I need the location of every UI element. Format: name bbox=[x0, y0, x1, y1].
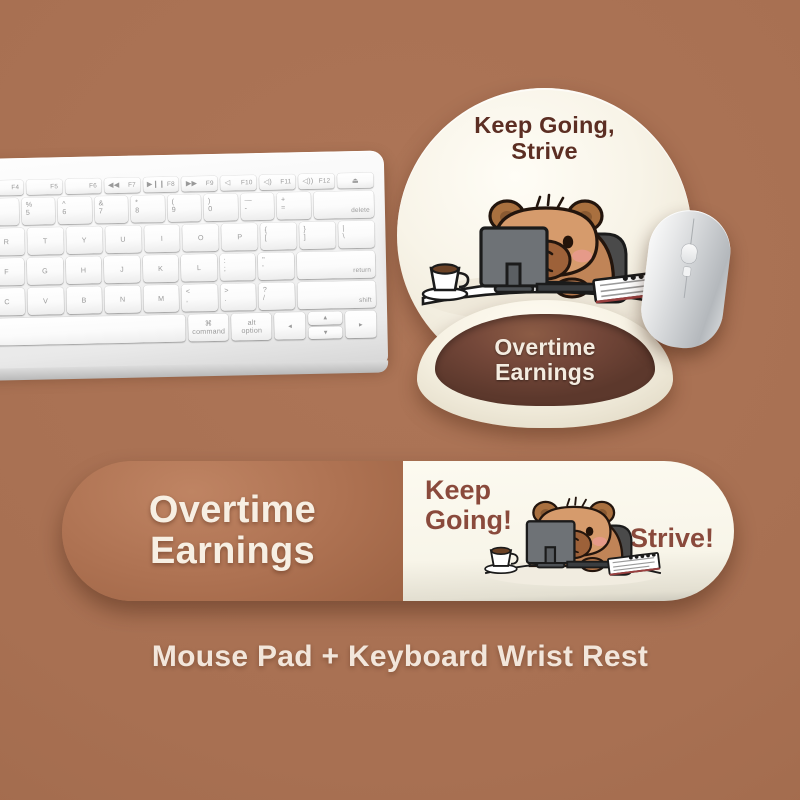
key-i[interactable]: I bbox=[144, 225, 180, 253]
product-photo-background: ·Ȇ·F3 ⌸F4 F5 F6 ◀◀F7 ▶❙❙F8 ▶▶F9 ◁F10 ◁)F… bbox=[0, 0, 800, 800]
key-b[interactable]: B bbox=[66, 286, 102, 314]
key-label: F bbox=[0, 267, 24, 276]
key-arrow-left[interactable]: ◂ bbox=[274, 312, 305, 340]
apple-keyboard: ·Ȇ·F3 ⌸F4 F5 F6 ◀◀F7 ▶❙❙F8 ▶▶F9 ◁F10 ◁)F… bbox=[0, 150, 388, 374]
key-label: G bbox=[27, 266, 63, 275]
key-v[interactable]: V bbox=[28, 287, 64, 315]
key-shift: — - bbox=[244, 196, 252, 213]
keyboard-wrist-rest[interactable]: Overtime Earnings Keep Going! Strive! bbox=[62, 461, 734, 601]
key-glyph: ▸ bbox=[345, 320, 376, 329]
key-label: H bbox=[66, 266, 102, 275]
key-5[interactable]: % 5 bbox=[22, 197, 56, 225]
mouse-pad-slogan-line2: Strive bbox=[397, 138, 692, 164]
key-f10-mute[interactable]: ◁F10 bbox=[221, 175, 257, 191]
key-command-right[interactable]: ⌘ command bbox=[188, 314, 229, 342]
key-shift-right[interactable]: shift bbox=[297, 281, 376, 310]
key-j[interactable]: J bbox=[104, 256, 140, 284]
key-f12-volume-up[interactable]: ◁))F12 bbox=[298, 173, 334, 189]
key-f[interactable]: F bbox=[0, 258, 25, 286]
key-glyph: ▶❙❙ bbox=[147, 180, 165, 189]
key-glyph: ◁ bbox=[225, 179, 231, 188]
key-6[interactable]: ^ 6 bbox=[58, 197, 92, 225]
key-f6[interactable]: F6 bbox=[65, 178, 101, 194]
key-f8-play[interactable]: ▶❙❙F8 bbox=[143, 177, 179, 193]
key-shift: > . bbox=[224, 287, 229, 304]
key-comma[interactable]: < , bbox=[182, 284, 218, 312]
key-label: ⌘ command bbox=[188, 319, 228, 337]
key-shift: : ; bbox=[224, 257, 227, 274]
key-glyph: ⏏ bbox=[337, 176, 373, 185]
key-glyph: ◁) bbox=[264, 178, 273, 187]
wrist-bump-line2: Earnings bbox=[495, 360, 595, 385]
key-equals[interactable]: + = bbox=[277, 192, 311, 220]
wrist-bump-label-area: Overtime Earnings bbox=[435, 314, 655, 406]
key-glyph: ▴ bbox=[308, 313, 342, 322]
key-arrow-updown-group: ▴ ▾ bbox=[308, 311, 342, 339]
wrist-rest-art-panel: Keep Going! Strive! bbox=[403, 461, 734, 601]
key-c[interactable]: C bbox=[0, 288, 25, 316]
key-slash[interactable]: ? / bbox=[259, 282, 295, 310]
key-option[interactable]: alt option bbox=[231, 313, 272, 341]
key-t[interactable]: T bbox=[27, 227, 63, 255]
key-eject[interactable]: ⏏ bbox=[337, 173, 373, 189]
key-label: L bbox=[181, 263, 217, 272]
key-m[interactable]: M bbox=[143, 285, 179, 313]
key-sub: F12 bbox=[319, 177, 331, 186]
key-shift: { [ bbox=[265, 226, 268, 243]
key-shift: % 5 bbox=[26, 201, 33, 218]
key-shift: } ] bbox=[303, 225, 306, 242]
keyboard-body: ·Ȇ·F3 ⌸F4 F5 F6 ◀◀F7 ▶❙❙F8 ▶▶F9 ◁F10 ◁)F… bbox=[0, 150, 388, 374]
key-label: shift bbox=[359, 296, 372, 305]
key-label: N bbox=[105, 295, 141, 304]
key-shift: & 7 bbox=[99, 199, 104, 216]
key-f9-forward[interactable]: ▶▶F9 bbox=[182, 176, 218, 192]
key-sub: F9 bbox=[206, 180, 214, 189]
key-f11-volume-down[interactable]: ◁)F11 bbox=[259, 174, 295, 190]
key-label: B bbox=[66, 296, 102, 305]
key-backslash[interactable]: | \ bbox=[338, 221, 374, 249]
key-0[interactable]: ) 0 bbox=[204, 193, 238, 221]
key-quote[interactable]: " ' bbox=[258, 252, 294, 280]
wrist-rest-line2: Earnings bbox=[150, 530, 315, 572]
key-l[interactable]: L bbox=[181, 254, 217, 282]
key-f4[interactable]: ⌸F4 bbox=[0, 180, 23, 196]
capybara-desk-illustration-bar bbox=[475, 479, 671, 591]
key-glyph: ▾ bbox=[309, 328, 343, 337]
key-shift: ^ 6 bbox=[62, 200, 67, 217]
key-sub: F6 bbox=[89, 182, 97, 191]
key-f7-rewind[interactable]: ◀◀F7 bbox=[104, 178, 140, 194]
key-sub: F8 bbox=[167, 180, 175, 189]
key-bracket-right[interactable]: } ] bbox=[299, 221, 335, 249]
key-shift: | \ bbox=[342, 224, 345, 241]
key-7[interactable]: & 7 bbox=[94, 196, 128, 224]
key-bracket-left[interactable]: { [ bbox=[260, 222, 296, 250]
key-shift: " ' bbox=[262, 256, 265, 273]
mouse-scroll-wheel[interactable] bbox=[681, 243, 698, 264]
key-n[interactable]: N bbox=[105, 286, 141, 314]
key-u[interactable]: U bbox=[105, 226, 141, 254]
key-sub: F11 bbox=[280, 178, 291, 187]
key-arrow-down[interactable]: ▾ bbox=[309, 326, 343, 339]
key-p[interactable]: P bbox=[222, 223, 258, 251]
key-shift: + = bbox=[281, 195, 286, 212]
keyboard-row-modifiers: ⌘ command ⌘ command alt option ◂ ▴ ▾ ▸ bbox=[0, 311, 381, 347]
key-space[interactable] bbox=[0, 315, 186, 346]
key-semicolon[interactable]: : ; bbox=[220, 253, 256, 281]
key-label: O bbox=[183, 233, 219, 242]
wrist-rest-label-panel: Overtime Earnings bbox=[62, 461, 403, 601]
keyboard-front-edge bbox=[0, 360, 388, 381]
key-f5[interactable]: F5 bbox=[26, 179, 62, 195]
key-label: delete bbox=[351, 206, 370, 215]
key-label: U bbox=[105, 235, 141, 244]
key-sub: F7 bbox=[128, 181, 136, 190]
wrist-bump-line1: Overtime bbox=[494, 335, 595, 360]
wrist-rest-text-block: Overtime Earnings bbox=[149, 490, 316, 572]
keyboard-keys: ·Ȇ·F3 ⌸F4 F5 F6 ◀◀F7 ▶❙❙F8 ▶▶F9 ◁F10 ◁)F… bbox=[0, 173, 381, 363]
key-sub: F10 bbox=[241, 179, 253, 188]
key-sub: F5 bbox=[50, 183, 58, 192]
key-4[interactable]: $ 4 bbox=[0, 198, 19, 226]
key-label: M bbox=[143, 294, 179, 303]
key-glyph: ◀◀ bbox=[108, 181, 120, 190]
key-h[interactable]: H bbox=[65, 256, 101, 284]
key-label: T bbox=[27, 236, 63, 245]
mouse-seam-top bbox=[690, 218, 694, 244]
key-delete[interactable]: delete bbox=[313, 191, 374, 219]
key-label: I bbox=[144, 234, 180, 243]
key-period[interactable]: > . bbox=[220, 283, 256, 311]
key-glyph: ◁)) bbox=[302, 177, 313, 186]
key-label: K bbox=[143, 264, 179, 273]
key-label: R bbox=[0, 237, 24, 246]
key-arrow-right[interactable]: ▸ bbox=[345, 311, 376, 339]
mouse-dpi-button[interactable] bbox=[683, 267, 691, 277]
key-return[interactable]: return bbox=[297, 251, 376, 280]
key-minus[interactable]: — - bbox=[240, 193, 274, 221]
key-o[interactable]: O bbox=[183, 224, 219, 252]
key-g[interactable]: G bbox=[27, 257, 63, 285]
key-label: V bbox=[28, 296, 64, 305]
key-glyph: ▶▶ bbox=[186, 179, 198, 188]
key-label: C bbox=[0, 297, 25, 306]
key-9[interactable]: ( 9 bbox=[167, 194, 201, 222]
key-shift: ? / bbox=[263, 286, 268, 303]
key-8[interactable]: * 8 bbox=[131, 195, 165, 223]
key-glyph: ◂ bbox=[275, 321, 306, 330]
key-shift: < , bbox=[186, 288, 191, 305]
key-r[interactable]: R bbox=[0, 228, 25, 256]
key-shift: ) 0 bbox=[208, 197, 213, 214]
wrist-rest-line1: Overtime bbox=[149, 489, 316, 531]
key-label: P bbox=[222, 232, 258, 241]
key-label: Y bbox=[66, 236, 102, 245]
key-shift: ( 9 bbox=[171, 198, 176, 215]
key-shift: * 8 bbox=[135, 199, 140, 216]
key-label: alt option bbox=[232, 318, 272, 336]
product-caption: Mouse Pad + Keyboard Wrist Rest bbox=[0, 640, 800, 674]
mouse-seam-bottom bbox=[684, 276, 688, 298]
key-label: return bbox=[353, 266, 371, 275]
key-arrow-up[interactable]: ▴ bbox=[308, 311, 342, 324]
key-sub: F4 bbox=[11, 184, 19, 193]
mouse-pad-slogan-line1: Keep Going, bbox=[397, 112, 692, 138]
mouse-pad-slogan: Keep Going, Strive bbox=[397, 112, 692, 164]
key-y[interactable]: Y bbox=[66, 226, 102, 254]
key-k[interactable]: K bbox=[143, 255, 179, 283]
key-label: J bbox=[104, 265, 140, 274]
